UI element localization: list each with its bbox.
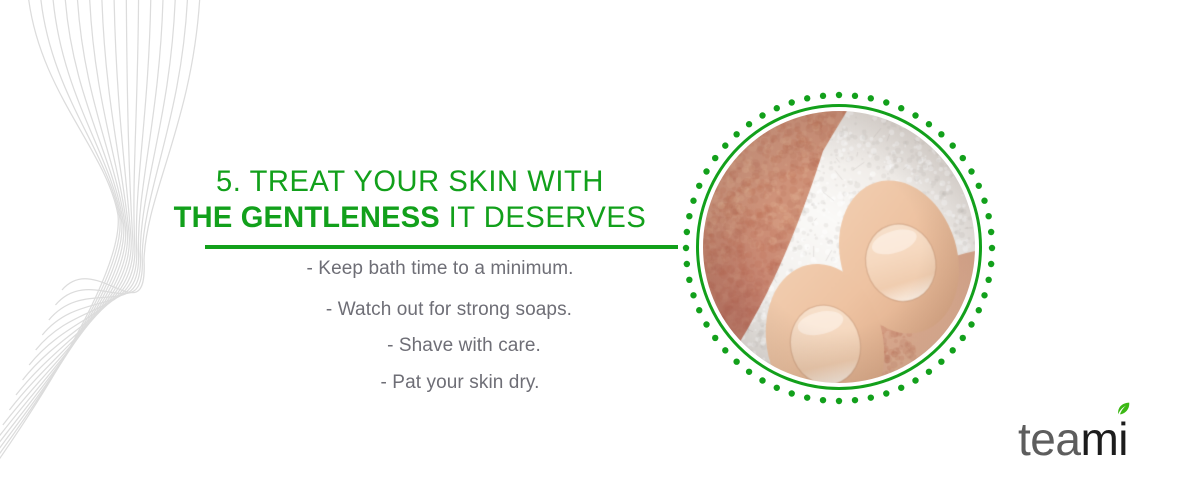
list-item: - Watch out for strong soaps. xyxy=(218,299,680,321)
promo-banner: 5. TREAT YOUR SKIN WITH THE GENTLENESS I… xyxy=(0,0,1200,500)
ring-dot xyxy=(950,347,956,353)
ring-dot xyxy=(690,198,696,204)
ring-dot xyxy=(989,245,995,251)
ring-dot xyxy=(683,245,689,251)
ring-dot xyxy=(759,112,765,118)
ring-dot xyxy=(912,112,918,118)
ring-dot xyxy=(746,369,752,375)
ring-dot xyxy=(950,142,956,148)
ring-dot xyxy=(912,377,918,383)
ring-dot xyxy=(968,168,974,174)
ring-dot xyxy=(926,369,932,375)
headline-line-2: THE GENTLENESS IT DESERVES xyxy=(138,202,681,234)
ring-dot xyxy=(789,99,795,105)
ring-dot xyxy=(684,261,690,267)
swirl-decoration xyxy=(0,0,260,500)
swirl-line xyxy=(0,0,126,440)
ring-dot xyxy=(774,105,780,111)
ring-dot xyxy=(836,92,842,98)
ring-dot xyxy=(804,394,810,400)
ring-dot xyxy=(938,131,944,137)
ring-dot xyxy=(820,397,826,403)
ring-dot xyxy=(868,394,874,400)
ring-dot xyxy=(976,183,982,189)
ring-dot xyxy=(684,229,690,235)
list-item: - Shave with care. xyxy=(248,335,680,357)
headline-block: 5. TREAT YOUR SKIN WITH THE GENTLENESS I… xyxy=(130,166,690,235)
ring-dot xyxy=(883,99,889,105)
ring-dot xyxy=(852,93,858,99)
swirl-line xyxy=(49,0,176,320)
ring-dot xyxy=(926,121,932,127)
headline-rest: IT DESERVES xyxy=(440,201,646,234)
ring-dot xyxy=(804,95,810,101)
ring-dot xyxy=(789,390,795,396)
ring-dot xyxy=(981,292,987,298)
ring-dot xyxy=(836,398,842,404)
ring-dot xyxy=(898,105,904,111)
ring-dot xyxy=(712,155,718,161)
ring-dot xyxy=(960,335,966,341)
ring-dot xyxy=(985,213,991,219)
ring-dot xyxy=(981,198,987,204)
ring-dot xyxy=(686,213,692,219)
swirl-line xyxy=(23,0,134,380)
ring-dot xyxy=(820,93,826,99)
ring-dot xyxy=(703,321,709,327)
brand-logo-bold-text: mi xyxy=(1080,416,1128,462)
ring-dot xyxy=(988,229,994,235)
leaf-icon xyxy=(1117,402,1130,415)
brand-logo-bold-label: mi xyxy=(1080,413,1128,465)
swirl-line xyxy=(0,0,124,455)
ring-dot xyxy=(722,142,728,148)
swirl-line-group xyxy=(0,0,200,500)
headline-line-1: 5. TREAT YOUR SKIN WITH xyxy=(138,166,681,198)
headline-divider-rule xyxy=(205,245,678,249)
swirl-line xyxy=(0,0,120,485)
headline-emphasis: THE GENTLENESS xyxy=(174,201,440,234)
swirl-line xyxy=(9,0,129,410)
swirl-line xyxy=(55,0,187,305)
ring-dot xyxy=(774,385,780,391)
ring-dot xyxy=(703,168,709,174)
list-item: - Pat your skin dry. xyxy=(240,372,680,394)
brand-logo[interactable]: tea mi xyxy=(1018,416,1128,468)
ring-dot xyxy=(898,385,904,391)
swirl-line xyxy=(3,0,128,425)
swirl-line xyxy=(0,0,122,470)
ring-dot xyxy=(868,95,874,101)
skincare-photo xyxy=(703,111,975,383)
ring-dot xyxy=(985,277,991,283)
ring-dot xyxy=(722,347,728,353)
photo-circle xyxy=(682,91,996,405)
photo-clip xyxy=(703,111,975,383)
ring-dot xyxy=(733,359,739,365)
ring-dot xyxy=(968,321,974,327)
ring-dot xyxy=(746,121,752,127)
swirl-line xyxy=(0,0,118,500)
swirl-line xyxy=(16,0,131,395)
ring-dot xyxy=(696,183,702,189)
ring-dot xyxy=(988,261,994,267)
ring-dot xyxy=(733,131,739,137)
ring-dot xyxy=(759,377,765,383)
swirl-line xyxy=(29,0,138,365)
swirl-line xyxy=(62,0,200,293)
ring-dot xyxy=(960,155,966,161)
ring-dot xyxy=(938,359,944,365)
ring-dot xyxy=(883,390,889,396)
ring-dot xyxy=(696,307,702,313)
ring-dot xyxy=(712,335,718,341)
ring-dot xyxy=(686,277,692,283)
brand-logo-light-text: tea xyxy=(1018,416,1080,462)
ring-dot xyxy=(976,307,982,313)
ring-dot xyxy=(690,292,696,298)
tips-list: - Keep bath time to a minimum. - Watch o… xyxy=(200,258,680,394)
list-item: - Keep bath time to a minimum. xyxy=(200,258,680,280)
ring-dot xyxy=(852,397,858,403)
